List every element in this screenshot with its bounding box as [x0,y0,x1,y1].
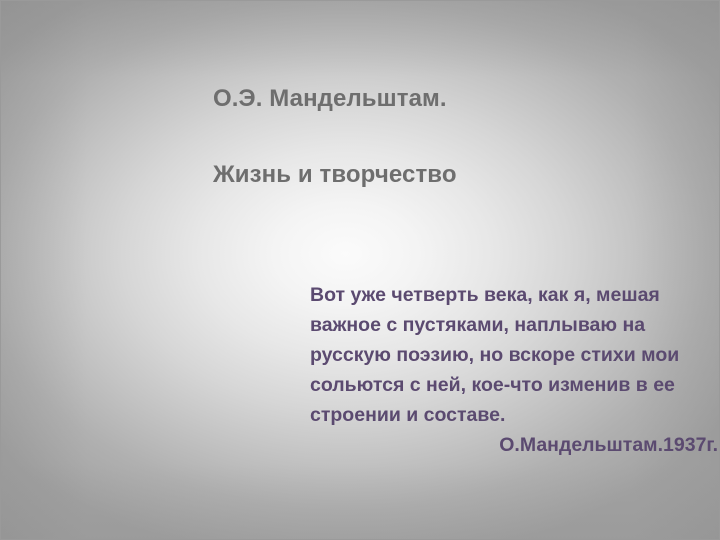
presentation-slide: О.Э. Мандельштам. Жизнь и творчество Вот… [0,0,720,540]
quote-text: Вот уже четверть века, как я, мешая важн… [310,280,718,430]
slide-title-block: О.Э. Мандельштам. Жизнь и творчество [213,85,683,190]
slide-title-line-2: Жизнь и творчество [213,161,683,189]
quote-attribution: О.Мандельштам.1937г. [310,430,718,460]
quote-block: Вот уже четверть века, как я, мешая важн… [310,280,718,460]
slide-title-line-1: О.Э. Мандельштам. [213,85,683,113]
